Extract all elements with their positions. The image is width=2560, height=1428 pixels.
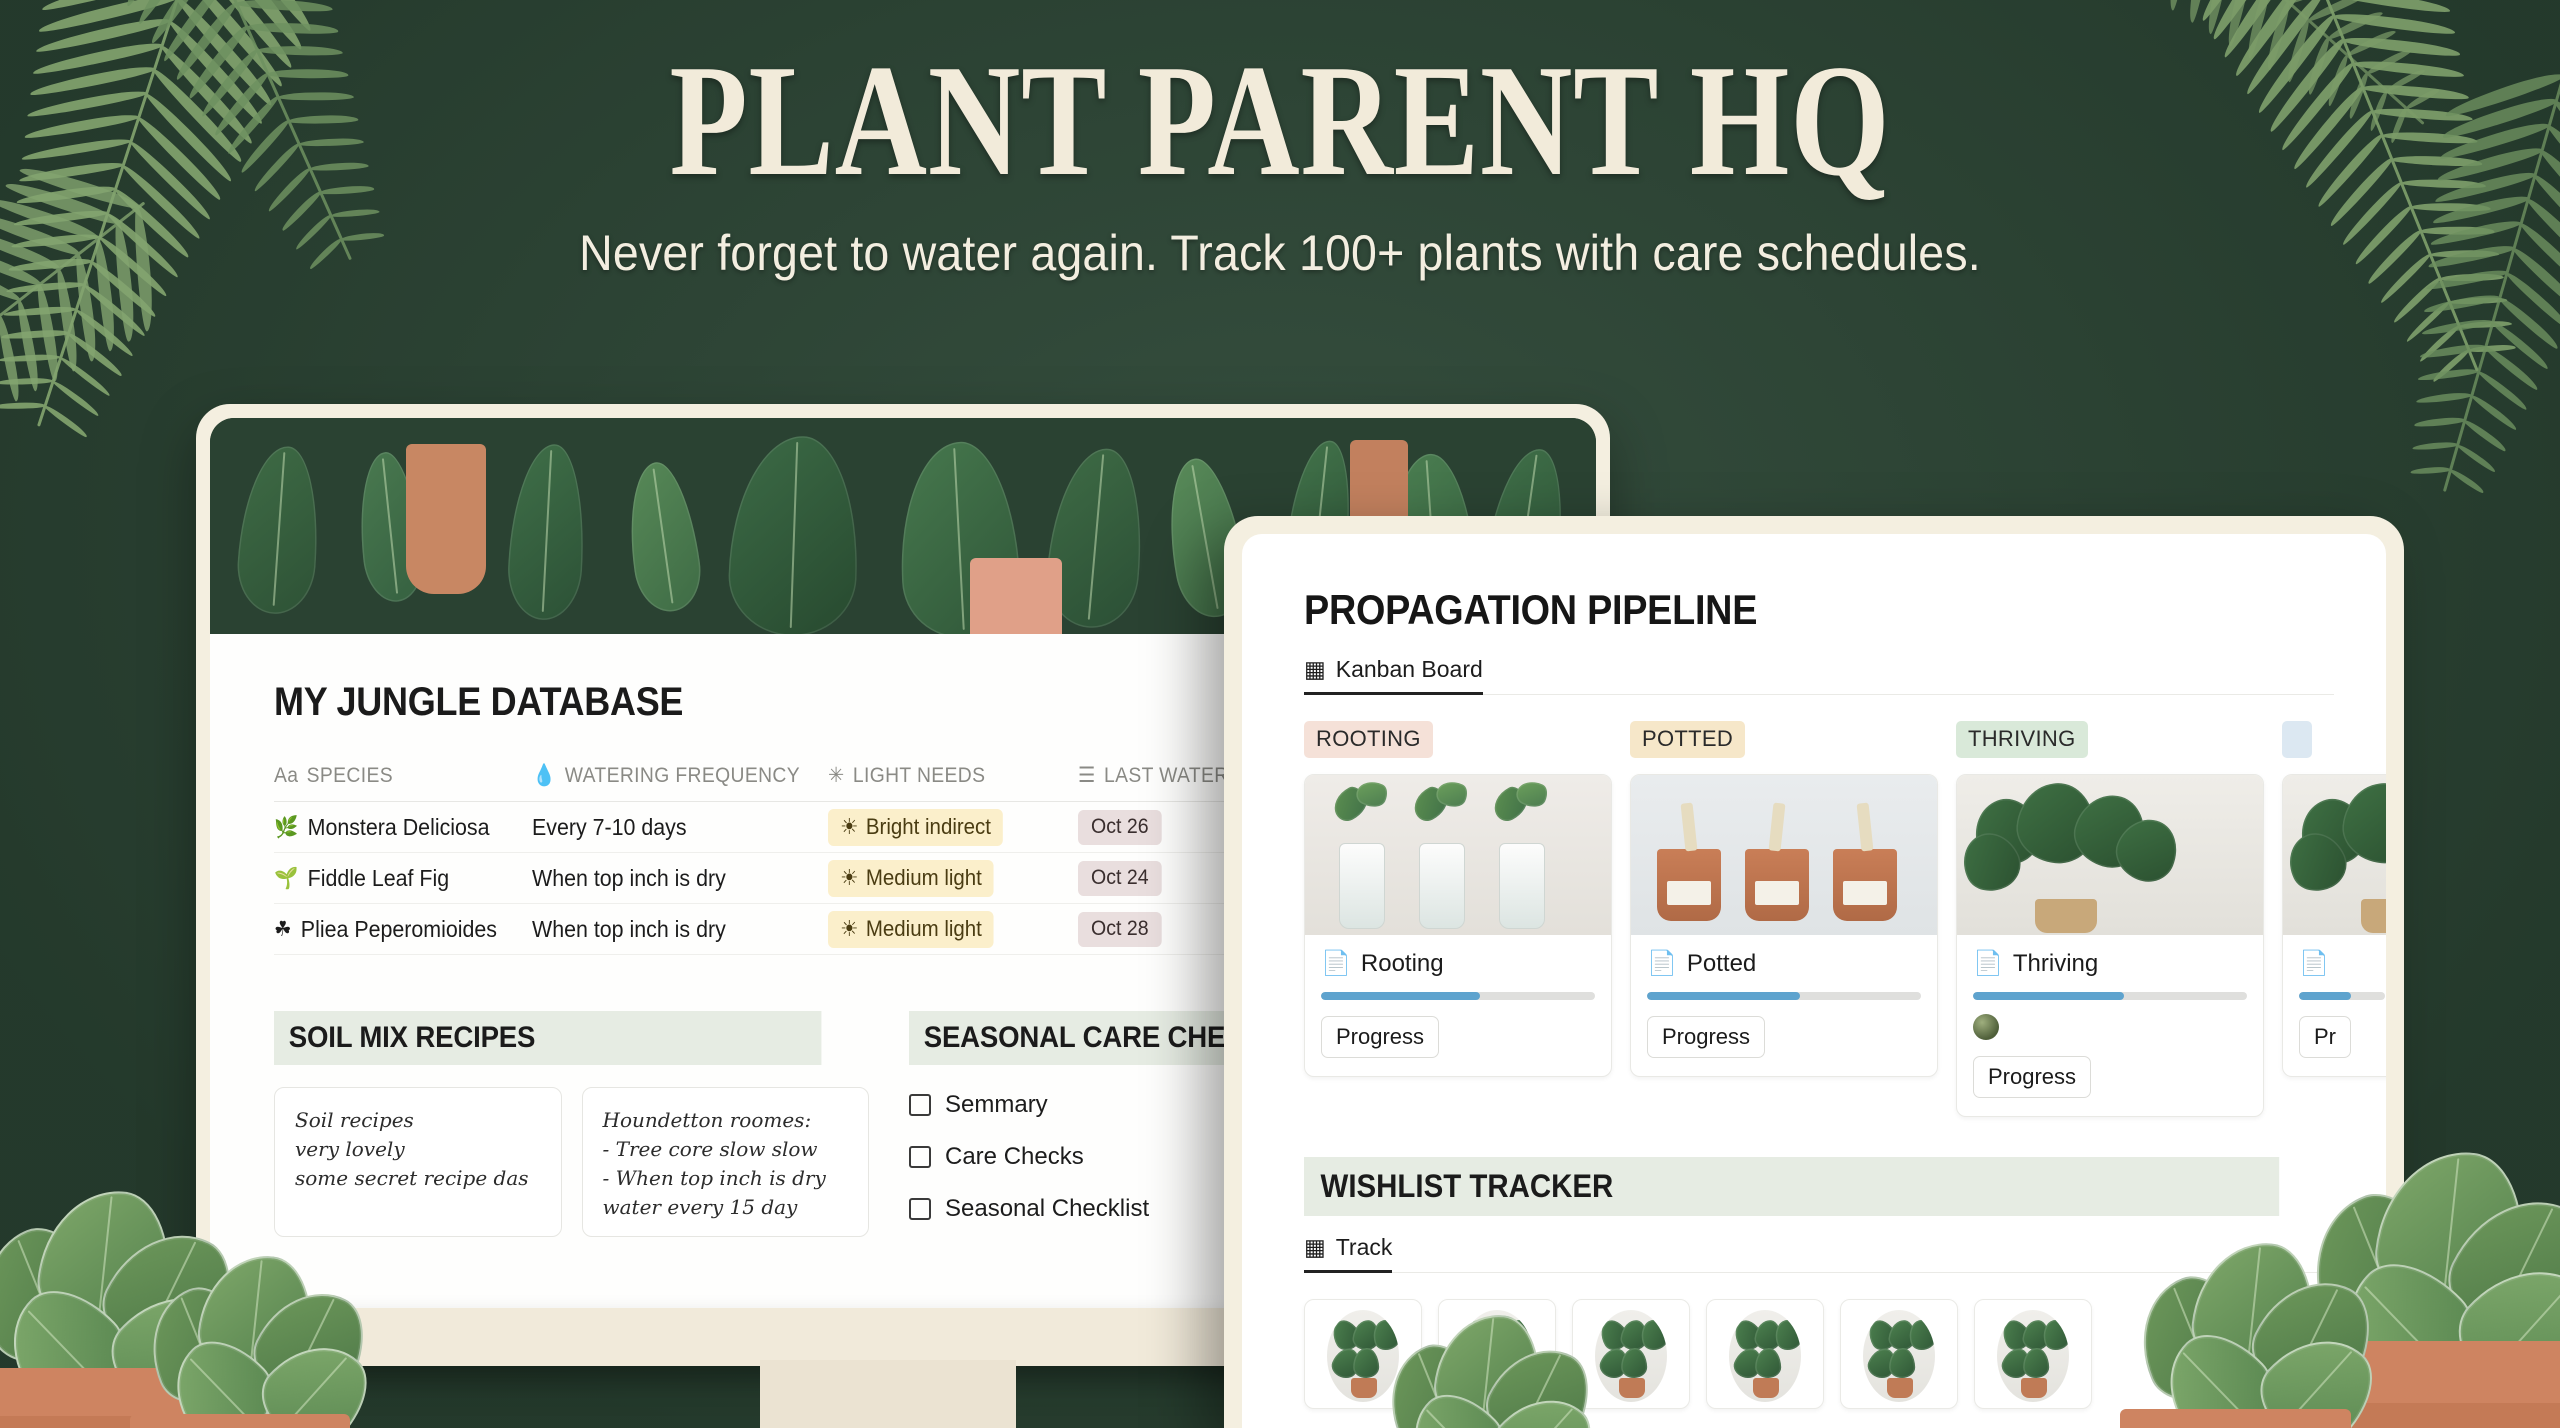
- light-badge: ☀ Medium light: [828, 911, 994, 948]
- checklist-column-a: Semmary Care Checks Seasonal Checklist: [909, 1091, 1149, 1223]
- card-title-row: 📄 Thriving: [1973, 949, 2247, 978]
- cell-watering: Every 7-10 days: [532, 814, 807, 841]
- checklist-item[interactable]: Care Checks: [909, 1143, 1149, 1171]
- status-badge[interactable]: ROOTING: [1304, 721, 1433, 758]
- philodendron-thumb: [1997, 1310, 2069, 1402]
- column-header-light-needs[interactable]: ✳ LIGHT NEEDS: [828, 763, 1058, 788]
- kanban-card[interactable]: 📄 Potted Progress: [1630, 774, 1938, 1077]
- sun-icon: ☀: [840, 916, 858, 942]
- card-title: Thriving: [2013, 950, 2098, 978]
- list-icon: ☰: [1078, 763, 1096, 788]
- card-title-row: 📄: [2299, 949, 2385, 978]
- progress-bar: [1973, 992, 2247, 1000]
- potted-plant-illustration: [2130, 1170, 2340, 1428]
- card-photo-potted-pots: [1631, 775, 1937, 935]
- species-name: Pliea Peperomioides: [301, 916, 497, 943]
- column-label: SPECIES: [307, 764, 393, 788]
- progress-bar: [2299, 992, 2385, 1000]
- checklist-item[interactable]: Seasonal Checklist: [909, 1195, 1149, 1223]
- wishlist-card[interactable]: [1706, 1299, 1824, 1409]
- light-label: Medium light: [866, 865, 982, 891]
- light-label: Bright indirect: [866, 814, 991, 840]
- date-badge: Oct 26: [1078, 810, 1162, 845]
- page-subtitle: Never forget to water again. Track 100+ …: [90, 224, 2471, 282]
- checklist-label: Care Checks: [945, 1143, 1084, 1171]
- cell-species[interactable]: 🌱 Fiddle Leaf Fig: [274, 865, 514, 892]
- tab-kanban-label-wrap: ▦ Kanban Board: [1304, 656, 1483, 692]
- soil-note-right-text: Houndetton roomes: - Tree core slow slow…: [603, 1106, 849, 1222]
- status-badge[interactable]: THRIVING: [1956, 721, 2088, 758]
- kanban-card-partial[interactable]: 📄 Pr: [2282, 774, 2386, 1077]
- soil-mix-notes: Soil recipes very lovely some secret rec…: [274, 1087, 869, 1237]
- card-body: 📄 Rooting Progress: [1305, 935, 1611, 1076]
- card-photo-cuttings: [1305, 775, 1611, 935]
- page-icon: 📄: [1647, 949, 1677, 978]
- checkbox-icon[interactable]: [909, 1094, 931, 1116]
- potted-plant-illustration: [140, 1190, 340, 1428]
- wishlist-card[interactable]: [1572, 1299, 1690, 1409]
- sun-icon: ✳: [828, 763, 845, 788]
- sun-icon: ☀: [840, 814, 858, 840]
- tab-kanban-board[interactable]: ▦ Kanban Board: [1304, 656, 1483, 695]
- status-badge-partial[interactable]: [2282, 721, 2312, 758]
- plant-leaf-icon: ☘: [274, 919, 292, 940]
- page-title: PLANT PARENT HQ: [256, 44, 2304, 198]
- column-label: LIGHT NEEDS: [853, 764, 986, 788]
- date-badge: Oct 28: [1078, 912, 1162, 947]
- soil-mix-section: SOIL MIX RECIPES Soil recipes very lovel…: [274, 1011, 869, 1237]
- card-photo-partial: [2283, 775, 2386, 935]
- cell-watering: When top inch is dry: [532, 865, 807, 892]
- progress-chip[interactable]: Progress: [1973, 1056, 2091, 1098]
- card-body: 📄 Potted Progress: [1631, 935, 1937, 1076]
- card-body: 📄 Thriving Progress: [1957, 935, 2263, 1116]
- parlor-palm-thumb: [1729, 1310, 1801, 1402]
- tab-kanban-label: Kanban Board: [1336, 656, 1483, 683]
- species-name: Fiddle Leaf Fig: [308, 865, 449, 892]
- kanban-card[interactable]: 📄 Rooting Progress: [1304, 774, 1612, 1077]
- cell-light: ☀ Medium light: [828, 911, 1061, 948]
- checklist-item[interactable]: Semmary: [909, 1091, 1149, 1119]
- card-title: Rooting: [1361, 950, 1444, 978]
- column-label: WATERING FREQUENCY: [565, 764, 800, 788]
- text-aa-icon: Aa: [274, 764, 298, 788]
- monitor-stand-neck: [760, 1360, 1016, 1428]
- light-badge: ☀ Bright indirect: [828, 809, 1003, 846]
- striped-calathea-thumb: [1863, 1310, 1935, 1402]
- checkbox-icon[interactable]: [909, 1146, 931, 1168]
- tab-active-underline: [1304, 692, 1483, 695]
- soil-note-right[interactable]: Houndetton roomes: - Tree core slow slow…: [582, 1087, 870, 1237]
- cell-species[interactable]: ☘ Pliea Peperomioides: [274, 916, 514, 943]
- cell-watering: When top inch is dry: [532, 916, 807, 943]
- soil-note-left-text: Soil recipes very lovely some secret rec…: [295, 1106, 541, 1193]
- table-grid-icon: ▦: [1304, 1234, 1326, 1261]
- card-title-row: 📄 Rooting: [1321, 949, 1595, 978]
- checklist-label: Semmary: [945, 1091, 1048, 1119]
- progress-bar: [1321, 992, 1595, 1000]
- soil-mix-header: SOIL MIX RECIPES: [274, 1011, 821, 1065]
- checkbox-icon[interactable]: [909, 1198, 931, 1220]
- kanban-column-thriving: THRIVING 📄 Thriving Progress: [1956, 721, 2264, 1117]
- avatar[interactable]: [1973, 1014, 1999, 1040]
- droplet-icon: 💧: [532, 764, 556, 788]
- potted-plant-illustration: [1380, 1250, 1570, 1428]
- hero-section: PLANT PARENT HQ Never forget to water ag…: [0, 44, 2560, 282]
- card-photo-monstera: [1957, 775, 2263, 935]
- date-badge: Oct 24: [1078, 861, 1162, 896]
- checklist-label: Seasonal Checklist: [945, 1195, 1149, 1223]
- sun-icon: ☀: [840, 865, 858, 891]
- table-grid-icon: ▦: [1304, 656, 1326, 683]
- light-badge: ☀ Medium light: [828, 860, 994, 897]
- propagation-title: PROPAGATION PIPELINE: [1304, 586, 2278, 634]
- progress-chip[interactable]: Progress: [1321, 1016, 1439, 1058]
- wishlist-card[interactable]: [1974, 1299, 2092, 1409]
- kanban-card[interactable]: 📄 Thriving Progress: [1956, 774, 2264, 1117]
- kanban-board: ROOTING 📄 Rooting Progress POTTED: [1304, 721, 2386, 1117]
- species-name: Monstera Deliciosa: [308, 814, 490, 841]
- column-header-species[interactable]: Aa SPECIES: [274, 763, 511, 788]
- card-title: Potted: [1687, 950, 1756, 978]
- kanban-column-rooting: ROOTING 📄 Rooting Progress: [1304, 721, 1612, 1117]
- cell-species[interactable]: 🌿 Monstera Deliciosa: [274, 814, 514, 841]
- plant-leaf-icon: 🌱: [274, 868, 298, 889]
- wishlist-card[interactable]: [1840, 1299, 1958, 1409]
- progress-bar: [1647, 992, 1921, 1000]
- cell-light: ☀ Medium light: [828, 860, 1061, 897]
- cell-light: ☀ Bright indirect: [828, 809, 1061, 846]
- kanban-column-potted: POTTED 📄 Potted Progress: [1630, 721, 1938, 1117]
- status-badge[interactable]: POTTED: [1630, 721, 1745, 758]
- plant-leaf-icon: 🌿: [274, 817, 298, 838]
- page-icon: 📄: [1321, 949, 1351, 978]
- page-icon: 📄: [1973, 949, 2003, 978]
- card-title-row: 📄 Potted: [1647, 949, 1921, 978]
- light-label: Medium light: [866, 916, 982, 942]
- pilea-thumb: [1595, 1310, 1667, 1402]
- progress-chip[interactable]: Progress: [1647, 1016, 1765, 1058]
- page-icon: 📄: [2299, 949, 2329, 978]
- column-header-watering-frequency[interactable]: 💧 WATERING FREQUENCY: [532, 763, 804, 788]
